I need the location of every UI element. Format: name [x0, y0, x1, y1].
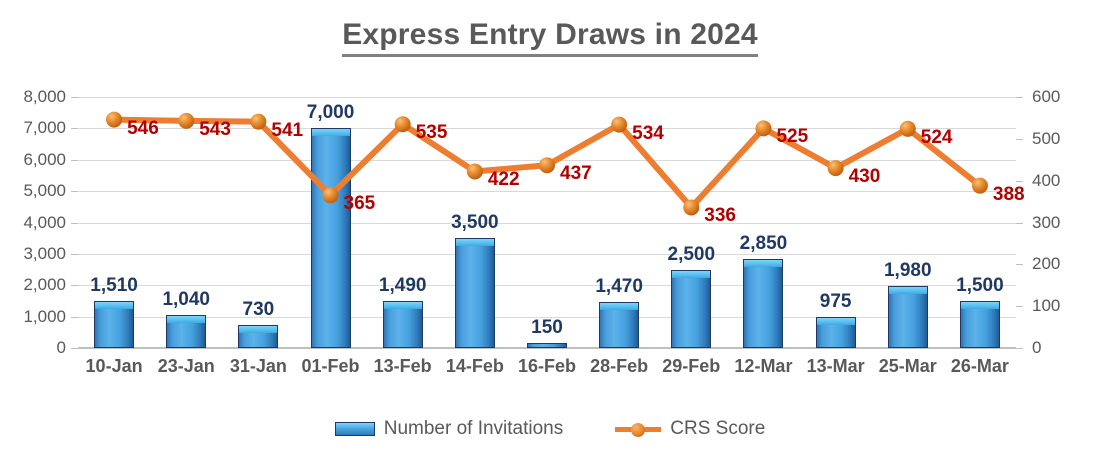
category-label: 28-Feb [583, 356, 655, 377]
bar-value-label: 730 [222, 299, 294, 321]
crs-value-label: 422 [488, 169, 520, 191]
crs-value-label: 534 [632, 123, 664, 145]
right-axis-tick-label: 100 [1032, 296, 1060, 316]
right-axis-tick-label: 400 [1032, 171, 1060, 191]
bar[interactable] [527, 343, 567, 348]
right-axis-tickmark [1016, 306, 1023, 307]
gridline [78, 160, 1016, 161]
chart-title-text: Express Entry Draws in 2024 [342, 18, 758, 57]
crs-data-point-marker[interactable] [106, 112, 122, 128]
bar[interactable] [671, 270, 711, 348]
right-axis-tick-label: 300 [1032, 213, 1060, 233]
bar-value-label: 150 [511, 317, 583, 339]
right-axis-tick-label: 0 [1032, 338, 1041, 358]
bar-value-label: 7,000 [294, 102, 366, 124]
bar[interactable] [383, 301, 423, 348]
crs-value-label: 541 [271, 120, 303, 142]
express-entry-draws-chart: Express Entry Draws in 2024 01,0002,0003… [0, 0, 1100, 466]
right-axis-tickmark [1016, 264, 1023, 265]
crs-data-point-marker[interactable] [395, 116, 411, 132]
crs-value-label: 535 [416, 122, 448, 144]
left-axis-tick-label: 3,000 [23, 244, 66, 264]
bar-value-label: 1,510 [78, 275, 150, 297]
bar-top-bevel [817, 318, 855, 325]
bar[interactable] [816, 317, 856, 348]
bar-value-label: 1,980 [872, 260, 944, 282]
crs-data-point-marker[interactable] [828, 160, 844, 176]
bar-top-bevel [889, 287, 927, 294]
bar-top-bevel [384, 302, 422, 309]
right-axis-tickmark [1016, 348, 1023, 349]
bar-value-label: 2,850 [727, 233, 799, 255]
bar-top-bevel [600, 303, 638, 310]
bar[interactable] [455, 238, 495, 348]
bar-value-label: 3,500 [439, 212, 511, 234]
crs-data-point-marker[interactable] [467, 163, 483, 179]
gridline [78, 223, 1016, 224]
legend-item-label: CRS Score [670, 418, 765, 440]
left-axis-tick-label: 6,000 [23, 150, 66, 170]
bar-value-label: 1,500 [944, 275, 1016, 297]
crs-value-label: 525 [776, 126, 808, 148]
bar-value-label: 1,470 [583, 276, 655, 298]
right-axis-tickmark [1016, 139, 1023, 140]
category-label: 13-Mar [800, 356, 872, 377]
right-axis-tickmark [1016, 223, 1023, 224]
crs-value-label: 524 [921, 127, 953, 149]
left-axis-tick-label: 7,000 [23, 118, 66, 138]
gridline [78, 97, 1016, 98]
left-axis-tickmark [71, 191, 78, 192]
bar-top-bevel [167, 316, 205, 323]
legend-item-invitations[interactable]: Number of Invitations [335, 418, 564, 440]
legend-item-crs-score[interactable]: CRS Score [615, 418, 765, 440]
left-axis-tickmark [71, 254, 78, 255]
left-axis-tickmark [71, 97, 78, 98]
left-axis-tickmark [71, 128, 78, 129]
bar-top-bevel [672, 271, 710, 278]
right-axis-tick-label: 600 [1032, 87, 1060, 107]
crs-data-point-marker[interactable] [611, 117, 627, 133]
category-label: 29-Feb [655, 356, 727, 377]
left-axis-tick-label: 4,000 [23, 213, 66, 233]
category-label: 01-Feb [294, 356, 366, 377]
left-axis-tickmark [71, 348, 78, 349]
bar[interactable] [599, 302, 639, 348]
bar-value-label: 1,040 [150, 289, 222, 311]
chart-legend: Number of Invitations CRS Score [0, 418, 1100, 440]
crs-value-label: 388 [993, 184, 1025, 206]
bar-top-bevel [239, 326, 277, 333]
bar-top-bevel [456, 239, 494, 246]
bar-top-bevel [312, 129, 350, 136]
crs-data-point-marker[interactable] [683, 199, 699, 215]
crs-value-label: 365 [344, 193, 376, 215]
crs-value-label: 430 [849, 166, 881, 188]
crs-value-label: 543 [199, 119, 231, 141]
left-axis-tickmark [71, 317, 78, 318]
crs-value-label: 336 [704, 205, 736, 227]
crs-value-label: 546 [127, 118, 159, 140]
crs-line-path [114, 120, 980, 208]
bar-swatch-icon [335, 422, 375, 436]
bar-value-label: 2,500 [655, 244, 727, 266]
bar-top-bevel [744, 260, 782, 267]
bar[interactable] [238, 325, 278, 348]
gridline [78, 254, 1016, 255]
category-label: 26-Mar [944, 356, 1016, 377]
category-label: 13-Feb [367, 356, 439, 377]
gridline [78, 191, 1016, 192]
left-axis-tick-label: 0 [57, 338, 66, 358]
left-axis-tick-label: 2,000 [23, 275, 66, 295]
crs-value-label: 437 [560, 163, 592, 185]
category-label: 10-Jan [78, 356, 150, 377]
gridline [78, 285, 1016, 286]
category-label: 12-Mar [727, 356, 799, 377]
crs-data-point-marker[interactable] [250, 114, 266, 130]
bar[interactable] [166, 315, 206, 348]
category-label: 16-Feb [511, 356, 583, 377]
category-label: 14-Feb [439, 356, 511, 377]
right-axis-tick-label: 500 [1032, 129, 1060, 149]
crs-data-point-marker[interactable] [178, 113, 194, 129]
right-axis-tickmark [1016, 97, 1023, 98]
bar[interactable] [743, 259, 783, 348]
category-label: 23-Jan [150, 356, 222, 377]
page-title: Express Entry Draws in 2024 [0, 18, 1100, 52]
bar-top-bevel [961, 302, 999, 309]
left-axis-tick-label: 8,000 [23, 87, 66, 107]
left-axis-tickmark [71, 160, 78, 161]
category-label: 25-Mar [872, 356, 944, 377]
legend-item-label: Number of Invitations [384, 418, 564, 440]
right-axis-tick-label: 200 [1032, 254, 1060, 274]
category-label: 31-Jan [222, 356, 294, 377]
bar-value-label: 1,490 [367, 275, 439, 297]
bar[interactable] [960, 301, 1000, 348]
left-axis-tick-label: 1,000 [23, 307, 66, 327]
bar-top-bevel [95, 302, 133, 309]
left-axis-tickmark [71, 285, 78, 286]
bar[interactable] [888, 286, 928, 348]
bar[interactable] [311, 128, 351, 348]
left-axis-tick-label: 5,000 [23, 181, 66, 201]
left-axis-tickmark [71, 223, 78, 224]
line-marker-icon [615, 421, 661, 437]
bar-value-label: 975 [800, 291, 872, 313]
bar[interactable] [94, 301, 134, 348]
right-axis-tickmark [1016, 181, 1023, 182]
